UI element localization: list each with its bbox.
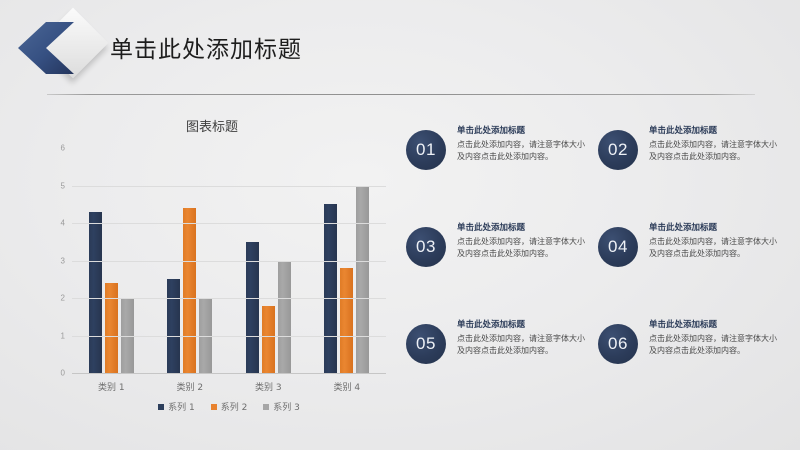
item-body: 点击此处添加内容，请注意字体大小及内容点击此处添加内容。 [457,236,589,260]
chart-legend: 系列 1系列 2系列 3 [72,400,386,413]
chart-y-tick-label: 5 [61,181,65,190]
item-text-block: 单击此处添加标题点击此处添加内容，请注意字体大小及内容点击此处添加内容。 [649,221,781,260]
chart-y-tick-label: 2 [61,294,65,303]
chart-y-tick-label: 1 [61,331,65,340]
chart-bar [356,186,369,374]
item-title: 单击此处添加标题 [457,124,589,136]
item-text-block: 单击此处添加标题点击此处添加内容，请注意字体大小及内容点击此处添加内容。 [649,124,781,163]
chart-bar [278,261,291,374]
item-text-block: 单击此处添加标题点击此处添加内容，请注意字体大小及内容点击此处添加内容。 [457,221,589,260]
chart-gridline [72,223,386,224]
chart-legend-label: 系列 2 [221,400,248,413]
item-body: 点击此处添加内容，请注意字体大小及内容点击此处添加内容。 [457,333,589,357]
feature-list: 01单击此处添加标题点击此处添加内容，请注意字体大小及内容点击此处添加内容。02… [406,124,790,414]
chart-legend-label: 系列 3 [273,400,300,413]
item-body: 点击此处添加内容，请注意字体大小及内容点击此处添加内容。 [649,236,781,260]
item-number-badge: 02 [598,130,638,170]
chart-bar [183,208,196,373]
list-item[interactable]: 06单击此处添加标题点击此处添加内容，请注意字体大小及内容点击此处添加内容。 [598,318,790,414]
chart-title: 图表标题 [34,116,390,135]
chart-gridline [72,373,386,374]
list-item[interactable]: 02单击此处添加标题点击此处添加内容，请注意字体大小及内容点击此处添加内容。 [598,124,790,220]
chart-x-tick-label: 类别 2 [151,380,230,393]
item-title: 单击此处添加标题 [457,221,589,233]
chevron-left-icon [16,22,74,74]
item-number-badge: 03 [406,227,446,267]
chart-gridline [72,148,386,149]
bar-chart: 图表标题 0123456 类别 1类别 2类别 3类别 4 系列 1系列 2系列… [34,110,390,410]
item-text-block: 单击此处添加标题点击此处添加内容，请注意字体大小及内容点击此处添加内容。 [649,318,781,357]
item-title: 单击此处添加标题 [457,318,589,330]
chart-gridline [72,336,386,337]
item-number-badge: 01 [406,130,446,170]
chart-x-tick-label: 类别 4 [308,380,387,393]
chart-x-tick-label: 类别 1 [72,380,151,393]
header-divider [47,94,755,95]
chart-legend-item[interactable]: 系列 3 [263,400,300,413]
item-title: 单击此处添加标题 [649,221,781,233]
legend-swatch-icon [263,404,269,410]
chart-bar [89,212,102,373]
chart-legend-item[interactable]: 系列 1 [158,400,195,413]
chart-y-tick-label: 0 [61,369,65,378]
item-title: 单击此处添加标题 [649,318,781,330]
list-item[interactable]: 05单击此处添加标题点击此处添加内容，请注意字体大小及内容点击此处添加内容。 [406,318,598,414]
list-item[interactable]: 04单击此处添加标题点击此处添加内容，请注意字体大小及内容点击此处添加内容。 [598,221,790,317]
list-item[interactable]: 03单击此处添加标题点击此处添加内容，请注意字体大小及内容点击此处添加内容。 [406,221,598,317]
chart-y-tick-label: 4 [61,219,65,228]
item-title: 单击此处添加标题 [649,124,781,136]
chart-bar [167,279,180,373]
item-text-block: 单击此处添加标题点击此处添加内容，请注意字体大小及内容点击此处添加内容。 [457,318,589,357]
item-text-block: 单击此处添加标题点击此处添加内容，请注意字体大小及内容点击此处添加内容。 [457,124,589,163]
chart-bar [105,283,118,373]
chart-x-axis-labels: 类别 1类别 2类别 3类别 4 [72,380,386,393]
chart-gridline [72,298,386,299]
item-body: 点击此处添加内容，请注意字体大小及内容点击此处添加内容。 [649,333,781,357]
item-number-badge: 06 [598,324,638,364]
chart-x-tick-label: 类别 3 [229,380,308,393]
chart-plot-area: 0123456 [72,148,386,373]
chart-y-tick-label: 6 [61,144,65,153]
item-body: 点击此处添加内容，请注意字体大小及内容点击此处添加内容。 [649,139,781,163]
chart-bar [262,306,275,374]
chart-legend-item[interactable]: 系列 2 [211,400,248,413]
item-number-badge: 05 [406,324,446,364]
chart-bar [324,204,337,373]
legend-swatch-icon [211,404,217,410]
list-item[interactable]: 01单击此处添加标题点击此处添加内容，请注意字体大小及内容点击此处添加内容。 [406,124,598,220]
chart-bar [340,268,353,373]
page-title: 单击此处添加标题 [110,30,302,64]
chart-legend-label: 系列 1 [168,400,195,413]
item-number-badge: 04 [598,227,638,267]
item-body: 点击此处添加内容，请注意字体大小及内容点击此处添加内容。 [457,139,589,163]
chevron-left-diamond-logo [10,8,110,86]
chart-gridline [72,186,386,187]
chart-y-tick-label: 3 [61,256,65,265]
legend-swatch-icon [158,404,164,410]
chart-gridline [72,261,386,262]
slide-canvas: 单击此处添加标题 图表标题 0123456 类别 1类别 2类别 3类别 4 系… [0,0,800,450]
